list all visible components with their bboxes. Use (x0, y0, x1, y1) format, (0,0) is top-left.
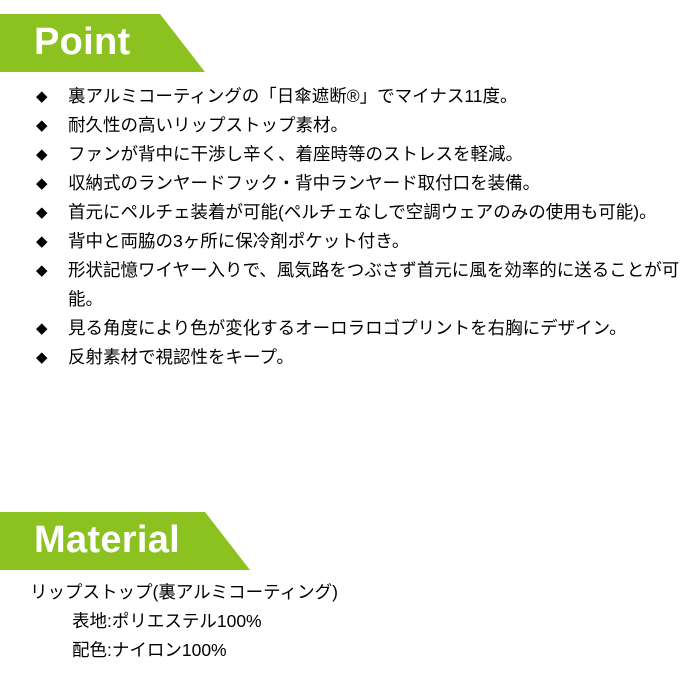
diamond-bullet-icon: ◆ (36, 256, 48, 285)
diamond-bullet-icon: ◆ (36, 169, 48, 198)
material-heading-label: Material (34, 521, 180, 559)
point-list-item-text: 形状記憶ワイヤー入りで、風気路をつぶさず首元に風を効率的に送ることが可能。 (68, 256, 684, 314)
point-section-heading-banner: Point (0, 14, 205, 72)
point-list-item-text: 見る角度により色が変化するオーロラロゴプリントを右胸にデザイン。 (68, 314, 684, 343)
material-line: 配色:ナイロン100% (0, 636, 700, 665)
diamond-bullet-icon: ◆ (36, 227, 48, 256)
material-line: 表地:ポリエステル100% (0, 607, 700, 636)
point-list-item: ◆形状記憶ワイヤー入りで、風気路をつぶさず首元に風を効率的に送ることが可能。 (0, 256, 700, 314)
material-line: リップストップ(裏アルミコーティング) (0, 578, 700, 607)
point-feature-list: ◆裏アルミコーティングの「日傘遮断®」でマイナス11度。◆耐久性の高いリップスト… (0, 82, 700, 372)
point-list-item: ◆背中と両脇の3ヶ所に保冷剤ポケット付き。 (0, 227, 700, 256)
diamond-bullet-icon: ◆ (36, 140, 48, 169)
point-list-item: ◆反射素材で視認性をキープ。 (0, 343, 700, 372)
point-list-item-text: 背中と両脇の3ヶ所に保冷剤ポケット付き。 (68, 227, 684, 256)
point-list-item-text: 首元にペルチェ装着が可能(ペルチェなしで空調ウェアのみの使用も可能)。 (68, 198, 684, 227)
point-list-item: ◆裏アルミコーティングの「日傘遮断®」でマイナス11度。 (0, 82, 700, 111)
point-list-item-text: 裏アルミコーティングの「日傘遮断®」でマイナス11度。 (68, 82, 684, 111)
point-list-item-text: ファンが背中に干渉し辛く、着座時等のストレスを軽減。 (68, 140, 684, 169)
point-list-item: ◆収納式のランヤードフック・背中ランヤード取付口を装備。 (0, 169, 700, 198)
diamond-bullet-icon: ◆ (36, 343, 48, 372)
material-composition-list: リップストップ(裏アルミコーティング)表地:ポリエステル100%配色:ナイロン1… (0, 578, 700, 665)
diamond-bullet-icon: ◆ (36, 314, 48, 343)
material-section-heading-banner: Material (0, 512, 250, 570)
point-list-item: ◆ファンが背中に干渉し辛く、着座時等のストレスを軽減。 (0, 140, 700, 169)
diamond-bullet-icon: ◆ (36, 198, 48, 227)
point-list-item: ◆見る角度により色が変化するオーロラロゴプリントを右胸にデザイン。 (0, 314, 700, 343)
point-list-item: ◆首元にペルチェ装着が可能(ペルチェなしで空調ウェアのみの使用も可能)。 (0, 198, 700, 227)
diamond-bullet-icon: ◆ (36, 111, 48, 140)
point-list-item-text: 収納式のランヤードフック・背中ランヤード取付口を装備。 (68, 169, 684, 198)
point-list-item: ◆耐久性の高いリップストップ素材。 (0, 111, 700, 140)
point-list-item-text: 耐久性の高いリップストップ素材。 (68, 111, 684, 140)
point-list-item-text: 反射素材で視認性をキープ。 (68, 343, 684, 372)
diamond-bullet-icon: ◆ (36, 82, 48, 111)
point-heading-label: Point (34, 23, 130, 61)
